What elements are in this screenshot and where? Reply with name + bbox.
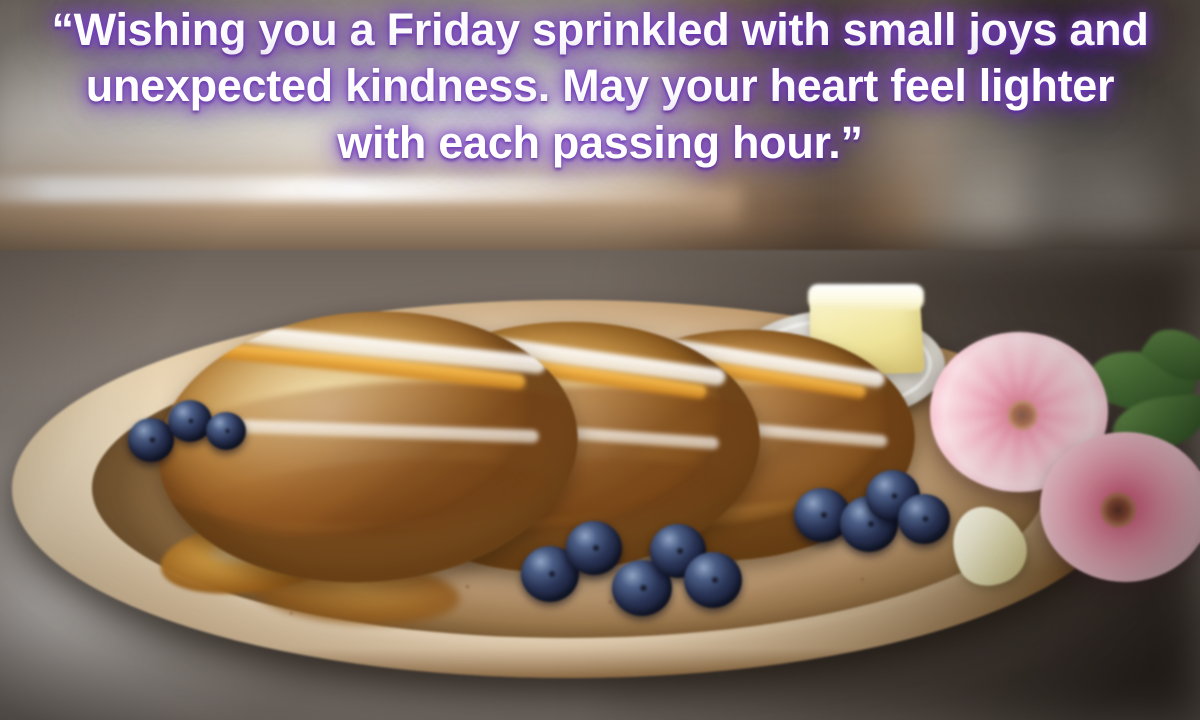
window-light-streak (0, 176, 720, 202)
butter-pat-top (808, 284, 924, 310)
blueberry (168, 400, 212, 442)
pink-flower-secondary (1040, 432, 1200, 582)
blueberry (684, 552, 742, 608)
blueberry (128, 418, 174, 462)
blueberry (566, 521, 622, 575)
blueberry (206, 412, 246, 450)
blueberry (898, 494, 950, 544)
quote-image-canvas: “Wishing you a Friday sprinkled with sma… (0, 0, 1200, 720)
